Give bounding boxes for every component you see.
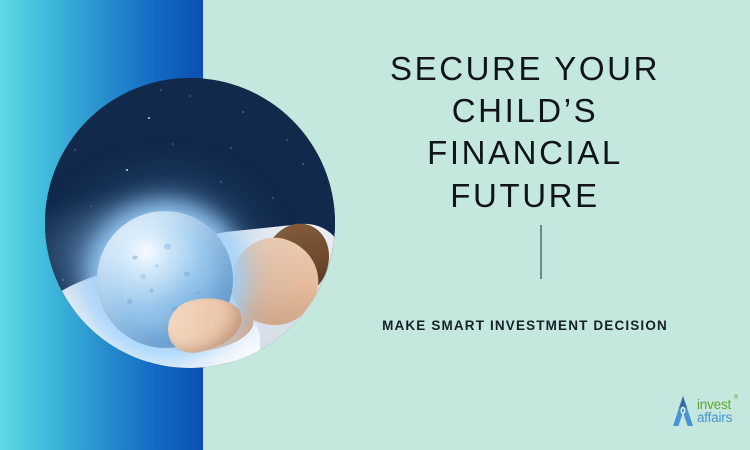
content-area: SECURE YOUR CHILD’S FINANCIAL FUTURE MAK… bbox=[360, 0, 750, 450]
stylized-a-icon bbox=[672, 395, 694, 427]
promotional-banner: SECURE YOUR CHILD’S FINANCIAL FUTURE MAK… bbox=[0, 0, 750, 450]
logo-line-invest: invest bbox=[697, 398, 732, 412]
child-holding-glowing-moon-photo bbox=[45, 78, 335, 368]
headline: SECURE YOUR CHILD’S FINANCIAL FUTURE bbox=[360, 48, 690, 217]
logo-wordmark: invest affairs ® bbox=[697, 398, 732, 425]
registered-trademark-icon: ® bbox=[734, 395, 738, 401]
divider bbox=[540, 225, 542, 279]
logo-line-affairs: affairs bbox=[697, 411, 732, 425]
subheadline: MAKE SMART INVESTMENT DECISION bbox=[360, 318, 690, 333]
brand-logo[interactable]: invest affairs ® bbox=[672, 392, 738, 430]
